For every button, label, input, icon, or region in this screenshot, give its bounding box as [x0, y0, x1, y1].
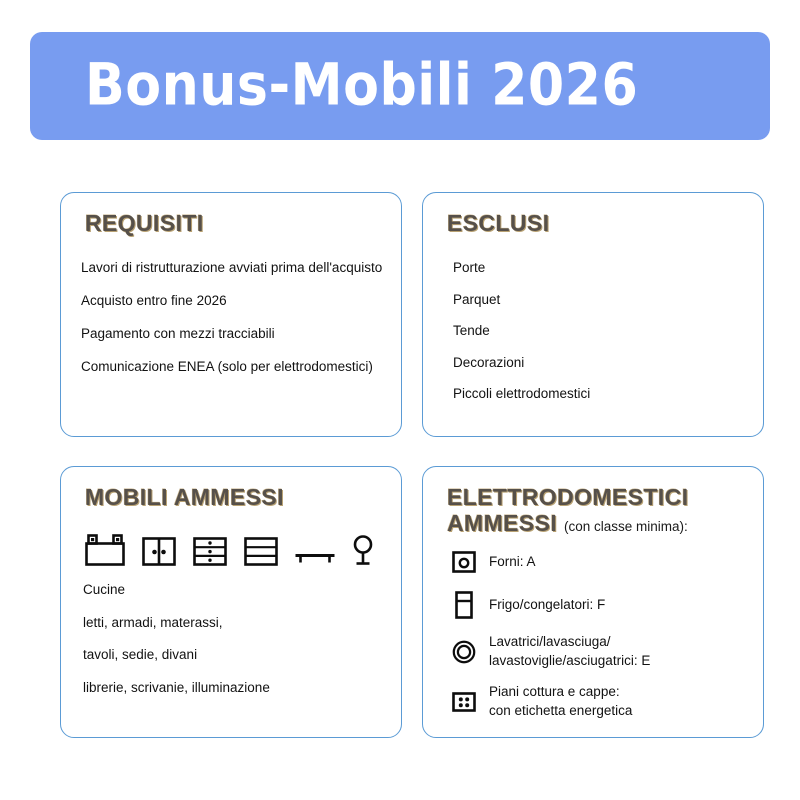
wardrobe-icon	[140, 533, 178, 569]
appliance-label: Frigo/congelatori: F	[489, 596, 605, 615]
cooktop-icon	[451, 688, 477, 716]
list-item: Forni: A	[451, 547, 751, 577]
list-item: Tende	[453, 324, 590, 338]
appliance-label: Forni: A	[489, 553, 536, 572]
chest-of-drawers-icon	[191, 533, 229, 569]
list-item: Acquisto entro fine 2026	[81, 294, 382, 308]
lamp-icon	[350, 533, 376, 569]
list-item: Piani cottura e cappe: con etichetta ene…	[451, 683, 751, 720]
list-item: Decorazioni	[453, 356, 590, 370]
page-title: Bonus-Mobili 2026	[85, 51, 638, 119]
list-item: letti, armadi, materassi,	[83, 616, 270, 630]
list-item: Lavori di ristrutturazione avviati prima…	[81, 261, 382, 275]
list-item: tavoli, sedie, divani	[83, 648, 270, 662]
oven-icon	[451, 548, 477, 576]
panel-requisiti-heading: REQUISITI	[85, 211, 204, 237]
panel-esclusi-heading: ESCLUSI	[447, 211, 549, 237]
list-item: Pagamento con mezzi tracciabili	[81, 327, 382, 341]
list-item: Piccoli elettrodomestici	[453, 387, 590, 401]
table-icon	[293, 533, 337, 569]
panel-elettrodomestici-heading: ELETTRODOMESTICI AMMESSI (con classe min…	[447, 485, 689, 537]
mobili-list: Cucine letti, armadi, materassi, tavoli,…	[83, 583, 270, 713]
appliance-list: Forni: A Frigo/congelatori: F Lavatrici/…	[451, 547, 751, 734]
title-banner: Bonus-Mobili 2026	[30, 32, 770, 140]
heading-line-2: AMMESSI	[447, 510, 557, 536]
heading-line-1: ELETTRODOMESTICI	[447, 484, 689, 510]
list-item: librerie, scrivanie, illuminazione	[83, 681, 270, 695]
panel-elettrodomestici-ammessi: ELETTRODOMESTICI AMMESSI (con classe min…	[422, 466, 764, 738]
panel-requisiti: REQUISITI Lavori di ristrutturazione avv…	[60, 192, 402, 437]
list-item: Comunicazione ENEA (solo per elettrodome…	[81, 360, 382, 374]
list-item: Cucine	[83, 583, 270, 597]
list-item: Parquet	[453, 293, 590, 307]
esclusi-list: Porte Parquet Tende Decorazioni Piccoli …	[453, 261, 590, 419]
panel-mobili-ammessi: MOBILI AMMESSI	[60, 466, 402, 738]
bed-icon	[83, 533, 127, 569]
list-item: Lavatrici/lavasciuga/ lavastoviglie/asci…	[451, 633, 751, 670]
requisiti-list: Lavori di ristrutturazione avviati prima…	[81, 261, 382, 393]
washing-machine-icon	[451, 638, 477, 666]
list-item: Porte	[453, 261, 590, 275]
bookshelf-icon	[242, 533, 280, 569]
fridge-icon	[451, 591, 477, 619]
appliance-label: Lavatrici/lavasciuga/ lavastoviglie/asci…	[489, 633, 650, 670]
appliance-label: Piani cottura e cappe: con etichetta ene…	[489, 683, 632, 720]
panel-esclusi: ESCLUSI Porte Parquet Tende Decorazioni …	[422, 192, 764, 437]
mobili-icon-row	[83, 525, 376, 569]
list-item: Frigo/congelatori: F	[451, 590, 751, 620]
panel-mobili-heading: MOBILI AMMESSI	[85, 485, 284, 511]
heading-note: (con classe minima):	[564, 519, 688, 534]
